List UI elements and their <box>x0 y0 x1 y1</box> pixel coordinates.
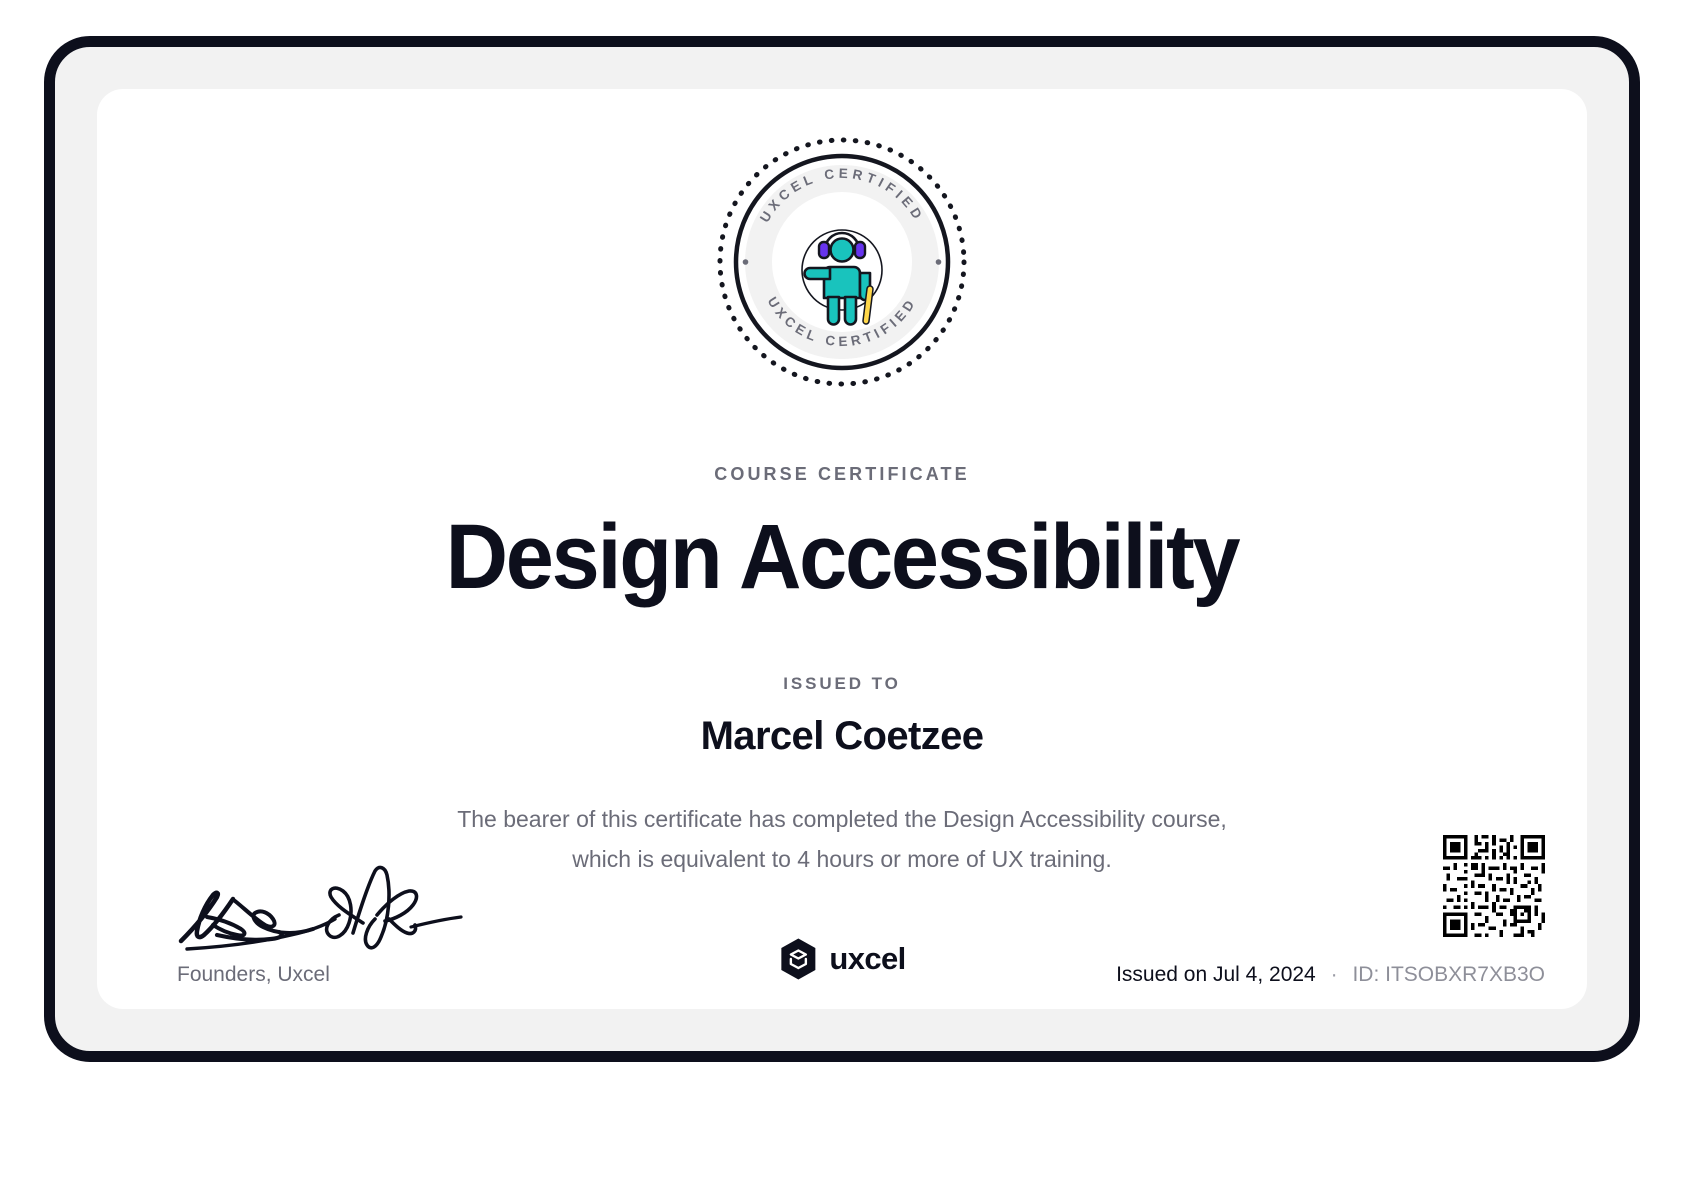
qr-code[interactable] <box>1443 835 1545 937</box>
uxcel-wordmark: uxcel <box>829 941 905 977</box>
signatures <box>137 863 557 955</box>
issued-on-date: Issued on Jul 4, 2024 <box>1116 963 1316 986</box>
signature-block: Founders, Uxcel <box>137 863 557 987</box>
page-title: Design Accessibility <box>142 507 1543 607</box>
issue-separator: · <box>1322 963 1347 986</box>
certificate-body: UXCEL CERTIFIED UXCEL CERTIFIED <box>97 89 1587 1009</box>
uxcel-cube-icon <box>778 937 818 981</box>
recipient-name: Marcel Coetzee <box>97 714 1587 759</box>
qr-code-icon <box>1443 835 1545 937</box>
uxcel-logo: uxcel <box>778 937 905 981</box>
certificate-id: ID: ITSOBXR7XB3O <box>1352 963 1545 986</box>
founders-label: Founders, Uxcel <box>137 963 557 987</box>
eyebrow-label: COURSE CERTIFICATE <box>97 464 1587 485</box>
badge-seal-icon: UXCEL CERTIFIED UXCEL CERTIFIED <box>714 134 970 390</box>
founder-signature-2-icon <box>319 863 469 955</box>
issue-info: Issued on Jul 4, 2024 · ID: ITSOBXR7XB3O <box>1116 963 1545 987</box>
certificate-frame: UXCEL CERTIFIED UXCEL CERTIFIED <box>44 36 1640 1062</box>
issued-to-label: ISSUED TO <box>97 674 1587 694</box>
badge-separator-dot-right <box>936 259 942 265</box>
uxcel-certified-badge: UXCEL CERTIFIED UXCEL CERTIFIED <box>714 134 970 390</box>
description-line-1: The bearer of this certificate has compl… <box>97 799 1587 839</box>
verification-block: Issued on Jul 4, 2024 · ID: ITSOBXR7XB3O <box>1116 835 1545 987</box>
badge-separator-dot-left <box>743 259 749 265</box>
